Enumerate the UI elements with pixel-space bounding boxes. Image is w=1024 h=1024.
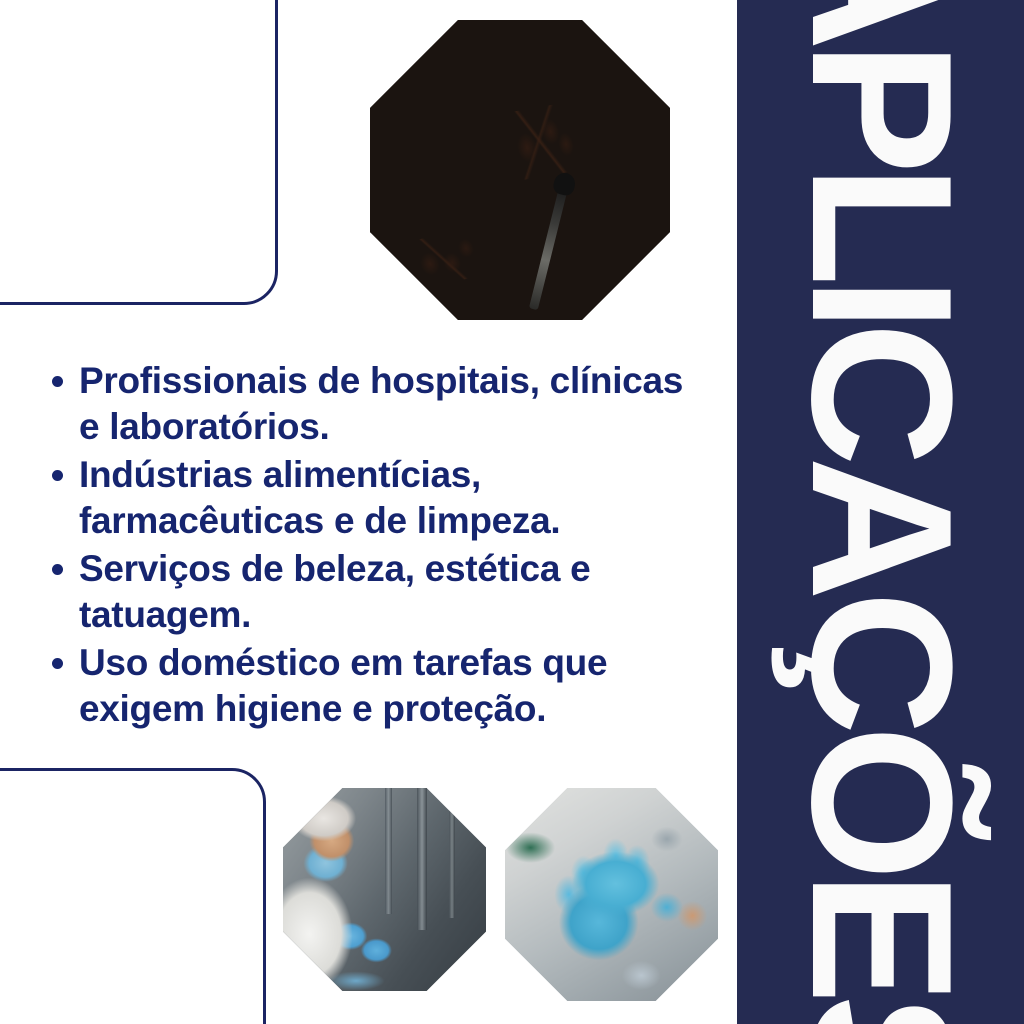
applications-list: Profissionais de hospitais, clínicas e l… (52, 358, 692, 734)
list-item: Serviços de beleza, estética e tatuagem. (52, 546, 692, 638)
factory-pipe (385, 788, 392, 914)
list-item: Profissionais de hospitais, clínicas e l… (52, 358, 692, 450)
bullet-dot-icon (52, 470, 63, 481)
gloved-hands-photo (505, 788, 718, 1001)
page-title: APLICAÇÕES (786, 0, 976, 1024)
bullet-dot-icon (52, 564, 63, 575)
frame-bottom-left-decoration (0, 768, 266, 1024)
list-item-label: Uso doméstico em tarefas que exigem higi… (79, 640, 692, 732)
poster-canvas: Profissionais de hospitais, clínicas e l… (0, 0, 1024, 1024)
lab-worker-photo (283, 788, 486, 991)
factory-pipe (417, 788, 427, 930)
bullet-dot-icon (52, 658, 63, 669)
frame-top-left-decoration (0, 0, 278, 305)
bullet-dot-icon (52, 376, 63, 387)
factory-pipe (449, 796, 455, 918)
list-item-label: Profissionais de hospitais, clínicas e l… (79, 358, 692, 450)
list-item: Indústrias alimentícias, farmacêuticas e… (52, 452, 692, 544)
tattoo-artist-photo (370, 20, 670, 320)
tattoo-ink-upper-arm (497, 100, 589, 182)
list-item: Uso doméstico em tarefas que exigem higi… (52, 640, 692, 732)
gloved-hands-photo-image (505, 788, 718, 1001)
sidebar-panel: APLICAÇÕES (737, 0, 1024, 1024)
list-item-label: Serviços de beleza, estética e tatuagem. (79, 546, 692, 638)
list-item-label: Indústrias alimentícias, farmacêuticas e… (79, 452, 692, 544)
